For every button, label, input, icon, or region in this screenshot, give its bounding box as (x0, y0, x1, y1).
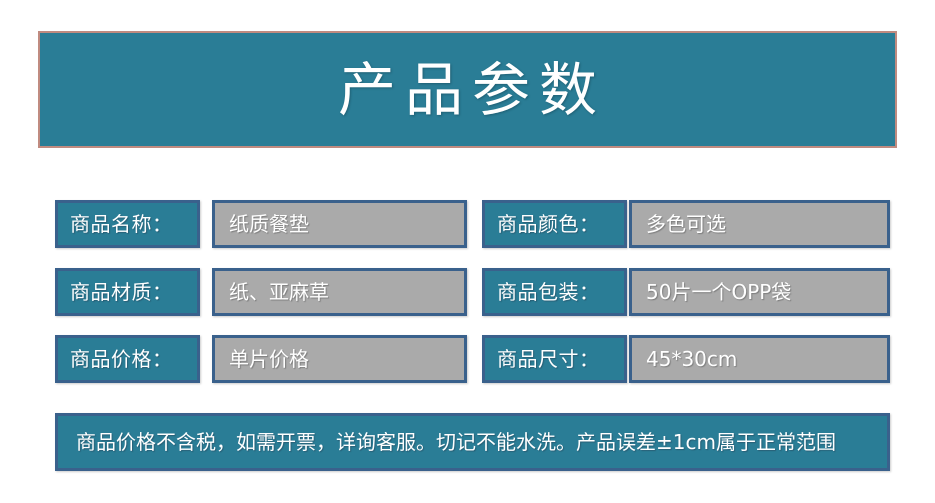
param-label-cell: 商品名称： (55, 200, 200, 248)
param-value-text: 纸、亚麻草 (215, 282, 329, 302)
param-value-text: 50片一个OPP袋 (632, 282, 791, 302)
param-value-text: 单片价格 (215, 349, 309, 369)
param-label-text: 商品尺寸： (485, 349, 600, 369)
param-value-cell: 单片价格 (212, 335, 467, 383)
product-parameters-page: 产品参数 商品名称： 纸质餐垫 商品颜色： 多色可选 商品材质： 纸、亚麻草 商… (0, 0, 935, 503)
param-value-cell: 50片一个OPP袋 (629, 268, 890, 316)
param-label-cell: 商品价格： (55, 335, 200, 383)
disclaimer-note-text: 商品价格不含税，如需开票，详询客服。切记不能水洗。产品误差±1cm属于正常范围 (58, 432, 836, 452)
param-label-text: 商品价格： (58, 349, 173, 369)
param-label-cell: 商品包装： (482, 268, 627, 316)
param-value-cell: 45*30cm (629, 335, 890, 383)
param-value-text: 45*30cm (632, 349, 737, 369)
param-value-cell: 纸、亚麻草 (212, 268, 467, 316)
param-label-cell: 商品颜色： (482, 200, 627, 248)
disclaimer-note-bar: 商品价格不含税，如需开票，详询客服。切记不能水洗。产品误差±1cm属于正常范围 (55, 413, 890, 471)
param-label-cell: 商品尺寸： (482, 335, 627, 383)
param-label-text: 商品名称： (58, 214, 173, 234)
param-value-cell: 多色可选 (629, 200, 890, 248)
param-label-cell: 商品材质： (55, 268, 200, 316)
param-value-text: 多色可选 (632, 214, 726, 234)
param-value-text: 纸质餐垫 (215, 214, 309, 234)
param-label-text: 商品颜色： (485, 214, 600, 234)
param-label-text: 商品材质： (58, 282, 173, 302)
param-label-text: 商品包装： (485, 282, 600, 302)
param-value-cell: 纸质餐垫 (212, 200, 467, 248)
